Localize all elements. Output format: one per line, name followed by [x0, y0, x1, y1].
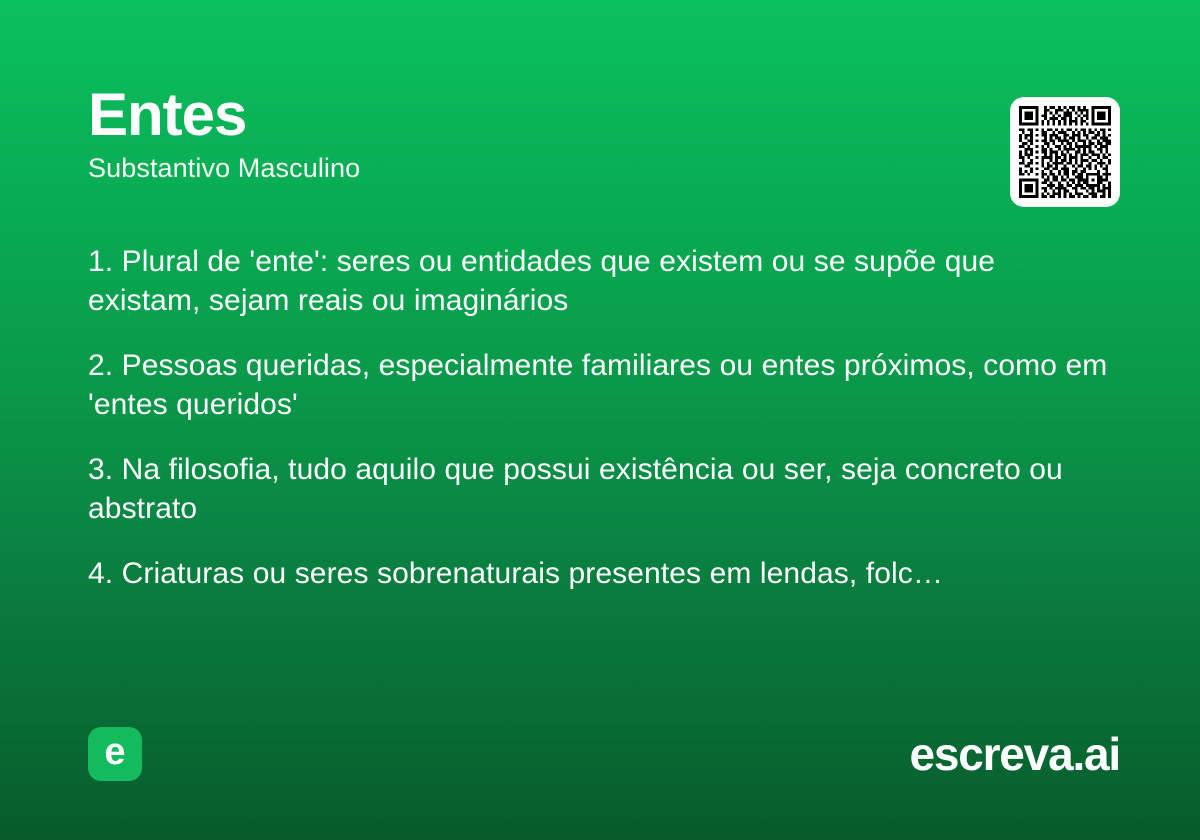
definition-item: 1. Plural de 'ente': seres ou entidades … — [88, 242, 1114, 320]
qr-code-icon — [1019, 106, 1111, 198]
definition-item: 4. Criaturas ou seres sobrenaturais pres… — [88, 554, 1114, 593]
card-header: Entes Substantivo Masculino — [88, 84, 1112, 184]
card-footer: e escreva.ai — [88, 726, 1120, 782]
page-title: Entes — [88, 84, 1112, 145]
escreva-logo-icon: e — [88, 727, 142, 781]
logo-glyph: e — [104, 733, 125, 771]
definition-card: Entes Substantivo Masculino — [0, 0, 1200, 840]
qr-code[interactable] — [1010, 97, 1120, 207]
definitions-list: 1. Plural de 'ente': seres ou entidades … — [88, 242, 1114, 593]
definition-item: 2. Pessoas queridas, especialmente famil… — [88, 346, 1114, 424]
definition-item: 3. Na filosofia, tudo aquilo que possui … — [88, 450, 1114, 528]
brand-name: escreva.ai — [909, 731, 1120, 777]
word-class-label: Substantivo Masculino — [88, 153, 1112, 184]
